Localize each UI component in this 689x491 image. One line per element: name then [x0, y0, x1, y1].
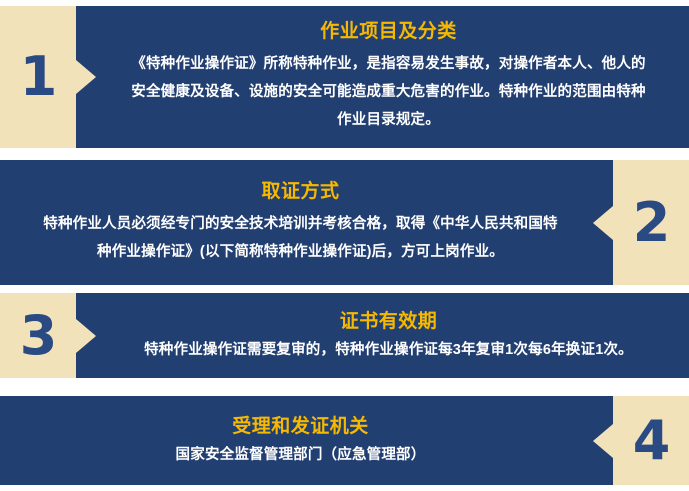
panel-number-1: 1 — [20, 50, 57, 104]
arrow-right-icon-3 — [76, 319, 96, 353]
panel-body-4: 国家安全监督管理部门（应急管理部） — [176, 445, 426, 467]
panel-body-line: 作业目录规定。 — [337, 112, 440, 128]
panel-content-2: 取证方式 特种作业人员必须经专门的安全技术培训并考核合格，取得《中华人民共和国特… — [8, 160, 593, 285]
panel-body-line: 特种作业操作证需要复审的，特种作业操作证每3年复审1次每6年换证1次。 — [144, 342, 633, 358]
number-block-2: 2 — [613, 160, 689, 285]
panel-3: 3 证书有效期 特种作业操作证需要复审的，特种作业操作证每3年复审1次每6年换证… — [0, 293, 689, 378]
panel-body-line: 特种作业人员必须经专门的安全技术培训并考核合格，取得《中华人民共和国特 — [43, 216, 558, 232]
panel-number-4: 4 — [633, 414, 670, 468]
panel-body-1: 《特种作业操作证》所称特种作业，是指容易发生事故，对操作者本人、他人的 安全健康… — [131, 50, 646, 135]
panel-title-4: 受理和发证机关 — [232, 414, 369, 440]
panel-1: 1 作业项目及分类 《特种作业操作证》所称特种作业，是指容易发生事故，对操作者本… — [0, 6, 689, 148]
panel-content-1: 作业项目及分类 《特种作业操作证》所称特种作业，是指容易发生事故，对操作者本人、… — [96, 6, 681, 148]
arrow-left-icon-2 — [593, 206, 613, 240]
panel-body-line: 《特种作业操作证》所称特种作业，是指容易发生事故，对操作者本人、他人的 — [131, 56, 646, 72]
panel-body-line: 国家安全监督管理部门（应急管理部） — [176, 447, 426, 463]
number-block-4: 4 — [613, 396, 689, 485]
panel-number-2: 2 — [633, 196, 670, 250]
panel-body-3: 特种作业操作证需要复审的，特种作业操作证每3年复审1次每6年换证1次。 — [144, 340, 633, 362]
panel-title-1: 作业项目及分类 — [320, 19, 457, 45]
panel-body-2: 特种作业人员必须经专门的安全技术培训并考核合格，取得《中华人民共和国特 种作业操… — [43, 210, 558, 267]
arrow-right-icon-1 — [76, 60, 96, 94]
panel-content-4: 受理和发证机关 国家安全监督管理部门（应急管理部） — [8, 396, 593, 485]
panel-2: 2 取证方式 特种作业人员必须经专门的安全技术培训并考核合格，取得《中华人民共和… — [0, 160, 689, 285]
panel-content-3: 证书有效期 特种作业操作证需要复审的，特种作业操作证每3年复审1次每6年换证1次… — [96, 293, 681, 378]
panel-body-line: 种作业操作证》(以下简称特种作业操作证)后，方可上岗作业。 — [97, 244, 504, 260]
infographic-container: 1 作业项目及分类 《特种作业操作证》所称特种作业，是指容易发生事故，对操作者本… — [0, 0, 689, 491]
panel-title-3: 证书有效期 — [340, 309, 438, 335]
panel-number-3: 3 — [20, 309, 57, 363]
panel-body-line: 安全健康及设备、设施的安全可能造成重大危害的作业。特种作业的范围由特种 — [131, 84, 646, 100]
number-block-1: 1 — [0, 6, 76, 148]
panel-4: 4 受理和发证机关 国家安全监督管理部门（应急管理部） — [0, 396, 689, 485]
number-block-3: 3 — [0, 293, 76, 378]
panel-title-2: 取证方式 — [261, 179, 339, 205]
arrow-left-icon-4 — [593, 424, 613, 458]
